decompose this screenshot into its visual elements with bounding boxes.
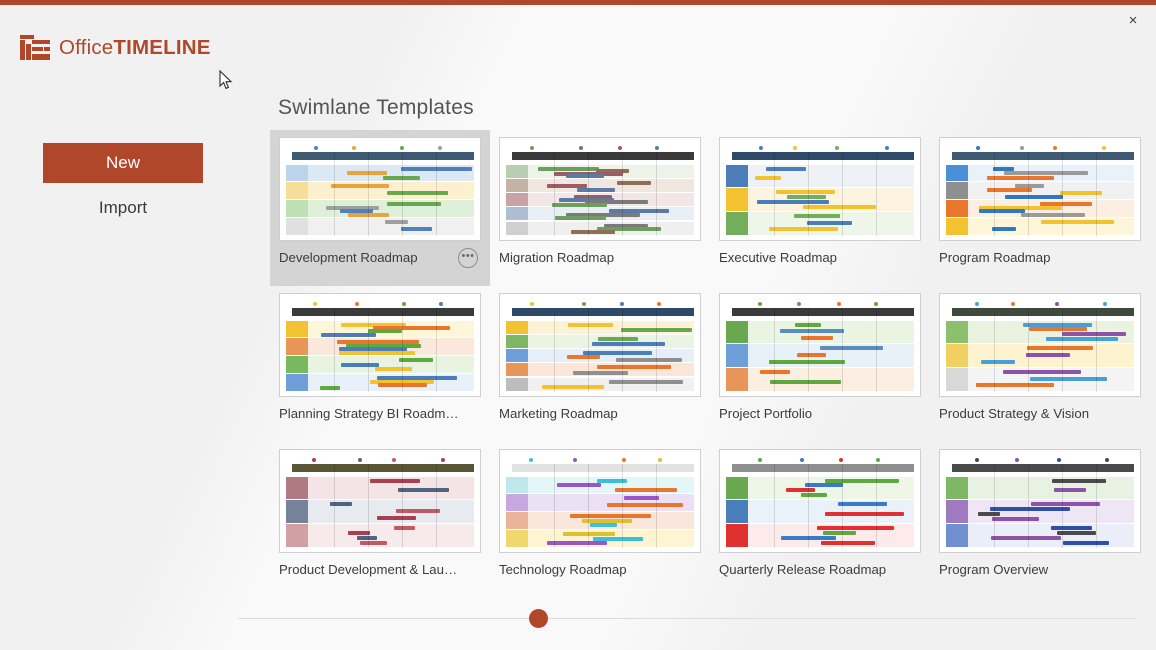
thumbnail-preview: [720, 450, 920, 552]
template-label: Planning Strategy BI Roadmap: [279, 406, 481, 421]
template-label: Development Roadmap: [279, 250, 481, 265]
thumbnail-preview: [940, 138, 1140, 240]
thumbnail-preview: [500, 294, 700, 396]
template-label: Program Overview: [939, 562, 1141, 577]
new-button[interactable]: New: [43, 143, 203, 183]
template-grid: Development Roadmap•••Migration RoadmapE…: [270, 130, 1156, 598]
pagination-line: [238, 618, 1136, 619]
template-thumbnail[interactable]: [719, 293, 921, 397]
template-thumbnail[interactable]: [939, 293, 1141, 397]
template-card[interactable]: Migration Roadmap: [490, 130, 710, 286]
template-thumbnail[interactable]: [719, 137, 921, 241]
template-label: Quarterly Release Roadmap: [719, 562, 921, 577]
gantt-chart-logo-icon: [20, 35, 50, 60]
thumbnail-preview: [280, 450, 480, 552]
template-thumbnail[interactable]: [939, 449, 1141, 553]
page-title: Swimlane Templates: [278, 96, 474, 120]
import-button[interactable]: Import: [43, 194, 203, 222]
template-label: Product Strategy & Vision: [939, 406, 1141, 421]
template-label: Program Roadmap: [939, 250, 1141, 265]
template-card[interactable]: Program Roadmap: [930, 130, 1150, 286]
template-label: Marketing Roadmap: [499, 406, 701, 421]
app-logo: OfficeTIMELINE: [20, 35, 211, 60]
logo-text-timeline: TIMELINE: [113, 36, 210, 59]
template-card[interactable]: Product Strategy & Vision: [930, 286, 1150, 442]
pagination-dot-1[interactable]: [529, 609, 548, 628]
main-content: Swimlane Templates Development Roadmap••…: [248, 0, 1156, 650]
template-label: Project Portfolio: [719, 406, 921, 421]
template-more-options-icon[interactable]: •••: [458, 248, 478, 268]
thumbnail-preview: [500, 138, 700, 240]
template-card[interactable]: Marketing Roadmap: [490, 286, 710, 442]
template-thumbnail[interactable]: [279, 137, 481, 241]
mouse-cursor-icon: [219, 70, 233, 90]
template-label: Product Development & Launch: [279, 562, 481, 577]
thumbnail-preview: [940, 294, 1140, 396]
thumbnail-preview: [720, 294, 920, 396]
template-card[interactable]: Project Portfolio: [710, 286, 930, 442]
template-label: Executive Roadmap: [719, 250, 921, 265]
thumbnail-preview: [500, 450, 700, 552]
thumbnail-preview: [280, 138, 480, 240]
template-card[interactable]: Executive Roadmap: [710, 130, 930, 286]
template-thumbnail[interactable]: [939, 137, 1141, 241]
office-timeline-gallery-window: × OfficeTIMELINE New Import Swimlane Tem…: [0, 0, 1156, 650]
template-card[interactable]: Product Development & Launch: [270, 442, 490, 598]
thumbnail-preview: [720, 138, 920, 240]
template-card[interactable]: Program Overview: [930, 442, 1150, 598]
thumbnail-preview: [940, 450, 1140, 552]
template-label: Technology Roadmap: [499, 562, 701, 577]
template-thumbnail[interactable]: [499, 137, 701, 241]
app-logo-text: OfficeTIMELINE: [59, 36, 211, 60]
template-label: Migration Roadmap: [499, 250, 701, 265]
template-card[interactable]: Quarterly Release Roadmap: [710, 442, 930, 598]
template-card[interactable]: Development Roadmap•••: [270, 130, 490, 286]
thumbnail-preview: [280, 294, 480, 396]
template-thumbnail[interactable]: [719, 449, 921, 553]
logo-text-office: Office: [59, 36, 113, 59]
template-card[interactable]: Technology Roadmap: [490, 442, 710, 598]
sidebar: OfficeTIMELINE New Import: [0, 0, 248, 650]
template-thumbnail[interactable]: [499, 293, 701, 397]
template-thumbnail[interactable]: [499, 449, 701, 553]
template-thumbnail[interactable]: [279, 449, 481, 553]
template-thumbnail[interactable]: [279, 293, 481, 397]
pagination: [238, 618, 1136, 620]
template-card[interactable]: Planning Strategy BI Roadmap: [270, 286, 490, 442]
